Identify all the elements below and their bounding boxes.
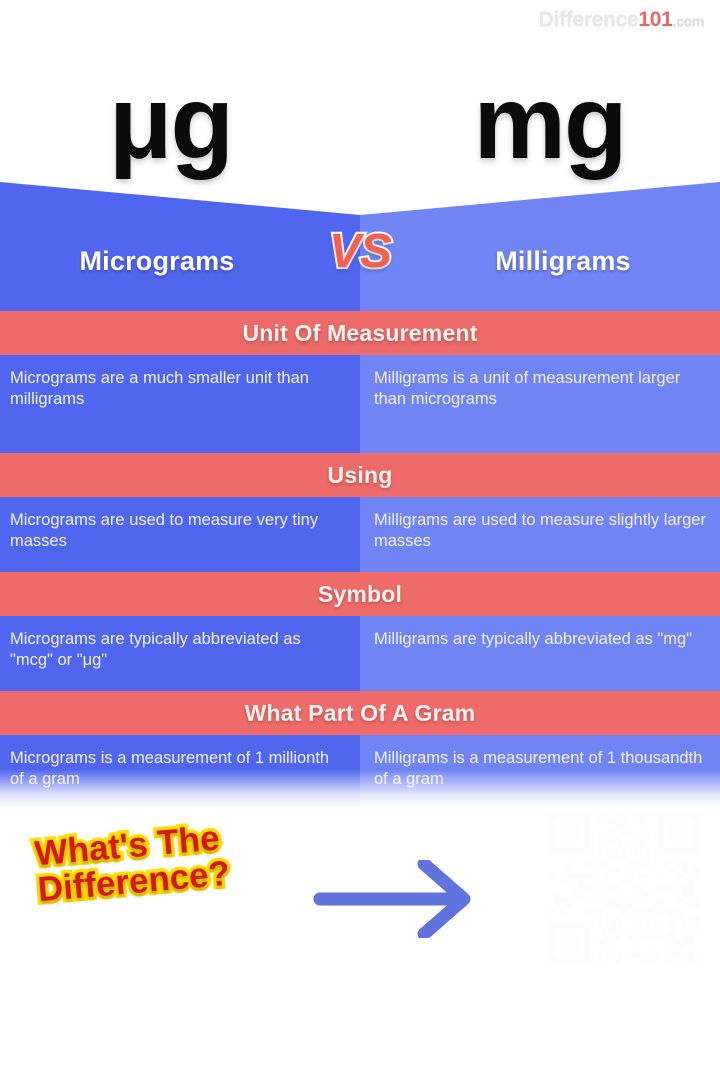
cell-left: Micrograms are typically abbreviated as … bbox=[0, 616, 360, 691]
banner-right-panel: Milligrams bbox=[360, 178, 720, 311]
right-arrow-icon bbox=[312, 860, 512, 938]
right-subject-title: Milligrams bbox=[360, 246, 720, 277]
infographic-page: Difference101.com μg mg Micrograms Milli… bbox=[0, 0, 720, 1078]
footer: What's The Difference? bbox=[0, 800, 720, 978]
brand-number: 101 bbox=[638, 8, 672, 31]
cell-left: Micrograms are a much smaller unit than … bbox=[0, 355, 360, 453]
bottom-whitespace bbox=[0, 978, 720, 1078]
table-row: Micrograms are a much smaller unit than … bbox=[0, 355, 720, 453]
table-row: Micrograms is a measurement of 1 million… bbox=[0, 735, 720, 810]
whats-the-difference-cta: What's The Difference? bbox=[33, 820, 231, 908]
row-heading-using: Using bbox=[0, 453, 720, 497]
vs-badge: VS bbox=[329, 228, 391, 276]
brand-tld: .com bbox=[673, 13, 704, 29]
cell-right: Milligrams are typically abbreviated as … bbox=[360, 616, 720, 691]
cell-left: Micrograms are used to measure very tiny… bbox=[0, 497, 360, 572]
row-heading-symbol: Symbol bbox=[0, 572, 720, 616]
row-heading-what-part-of-a-gram: What Part Of A Gram bbox=[0, 691, 720, 735]
left-unit-symbol: μg bbox=[0, 62, 369, 184]
cell-right: Milligrams are used to measure slightly … bbox=[360, 497, 720, 572]
row-heading-unit-of-measurement: Unit Of Measurement bbox=[0, 311, 720, 355]
brand-name: Difference bbox=[539, 8, 639, 31]
cell-right: Milligrams is a measurement of 1 thousan… bbox=[360, 735, 720, 810]
cell-left: Micrograms is a measurement of 1 million… bbox=[0, 735, 360, 810]
qr-code-icon[interactable] bbox=[548, 812, 700, 964]
brand-logo: Difference101.com bbox=[539, 8, 704, 32]
banner-left-panel: Micrograms bbox=[0, 178, 360, 311]
table-row: Micrograms are used to measure very tiny… bbox=[0, 497, 720, 572]
left-subject-title: Micrograms bbox=[0, 246, 360, 277]
comparison-table: Unit Of Measurement Micrograms are a muc… bbox=[0, 311, 720, 810]
unit-symbols: μg mg bbox=[0, 62, 720, 184]
right-unit-symbol: mg bbox=[369, 62, 720, 184]
cell-right: Milligrams is a unit of measurement larg… bbox=[360, 355, 720, 453]
table-row: Micrograms are typically abbreviated as … bbox=[0, 616, 720, 691]
